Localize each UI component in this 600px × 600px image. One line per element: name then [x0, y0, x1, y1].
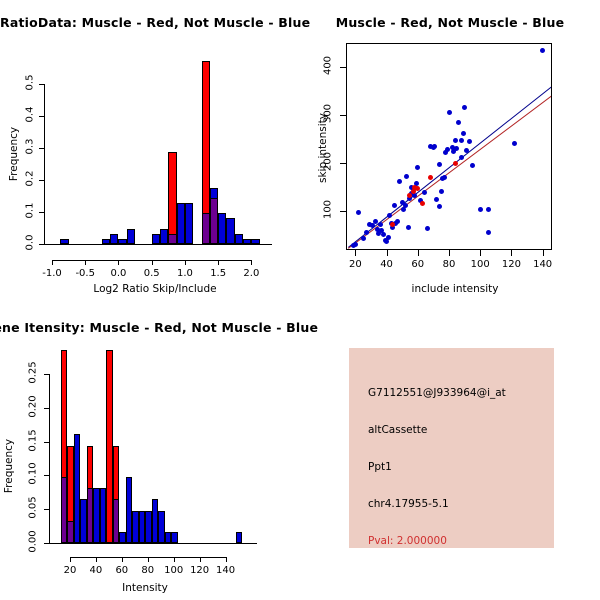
scatter-point-notmuscle: [447, 110, 452, 115]
scatter-point-notmuscle: [467, 139, 472, 144]
scatter-point-notmuscle: [453, 138, 458, 143]
gene-bar-notmuscle: [80, 499, 86, 543]
ratio-bar-notmuscle: [118, 239, 126, 244]
gene-y-tick-label: 0.10: [28, 456, 39, 492]
scatter-point-notmuscle: [361, 236, 366, 241]
scatter-x-tick: [543, 250, 544, 256]
annotation-info-panel: G7112551@J933964@i_at altCassette Ppt1 c…: [349, 348, 554, 548]
ratio-bar-muscle: [168, 152, 176, 244]
scatter-point-notmuscle: [461, 131, 466, 136]
gene-y-tick: [44, 442, 49, 443]
scatter-title: Muscle - Red, Not Muscle - Blue: [300, 15, 600, 30]
ratio-x-tick-label: 0.0: [101, 268, 135, 279]
ratio-x-tick-label: -1.0: [35, 268, 69, 279]
scatter-x-tick: [480, 250, 481, 256]
scatter-y-tick: [340, 67, 346, 68]
gene-bar-notmuscle: [145, 511, 151, 543]
ratio-baseline: [44, 244, 272, 245]
gene-bar-notmuscle: [93, 488, 99, 543]
ratio-y-tick: [39, 116, 44, 117]
scatter-point-notmuscle: [351, 243, 356, 248]
ratio-y-tick-label: 0.1: [25, 195, 36, 225]
scatter-point-notmuscle: [415, 165, 420, 170]
gene-y-tick-label: 0.20: [28, 388, 39, 424]
gene-y-tick-label: 0.15: [28, 422, 39, 458]
gene-bar-notmuscle: [152, 499, 158, 543]
scatter-point-notmuscle: [456, 120, 461, 125]
gene-y-tick-label: 0.00: [28, 524, 39, 560]
gene-symbol-text: Ppt1: [368, 461, 392, 473]
ratio-bar-notmuscle: [243, 239, 251, 244]
gene-x-tick: [200, 557, 201, 562]
scatter-y-tick-label: 400: [323, 52, 334, 80]
ratio-bar-overlap: [210, 198, 218, 244]
ratio-x-tick: [118, 260, 119, 265]
ratio-x-tick: [251, 260, 252, 265]
scatter-x-tick: [418, 250, 419, 256]
gene-x-tick-label: 140: [211, 565, 241, 576]
scatter-point-notmuscle: [387, 213, 392, 218]
gene-x-tick: [148, 557, 149, 562]
ratio-bar-notmuscle: [226, 218, 234, 244]
scatter-point-muscle: [420, 201, 425, 206]
ratio-bar-overlap: [168, 234, 176, 244]
locus-text: chr4.17955-5.1: [368, 498, 449, 510]
gene-histogram-y-axis-title: Frequency: [3, 431, 15, 501]
gene-bar-notmuscle: [74, 434, 80, 543]
scatter-point-notmuscle: [383, 238, 388, 243]
scatter-y-tick-label: 200: [323, 148, 334, 176]
gene-y-tick-label: 0.25: [28, 355, 39, 391]
ratio-x-tick-label: 2.0: [234, 268, 268, 279]
scatter-x-tick: [511, 250, 512, 256]
probe-id-text: G7112551@J933964@i_at: [368, 387, 506, 399]
gene-bar-notmuscle: [171, 532, 177, 543]
gene-y-tick: [44, 408, 49, 409]
gene-x-tick: [96, 557, 97, 562]
scatter-point-notmuscle: [422, 190, 427, 195]
ratio-bar-notmuscle: [235, 234, 243, 244]
scatter-x-tick-label: 20: [340, 259, 370, 270]
ratio-x-tick: [85, 260, 86, 265]
scatter-point-notmuscle: [478, 207, 483, 212]
scatter-point-notmuscle: [486, 207, 491, 212]
gene-y-tick-label: 0.05: [28, 490, 39, 526]
ratio-y-tick: [39, 212, 44, 213]
scatter-point-notmuscle: [375, 227, 380, 232]
scatter-y-tick-label: 300: [323, 100, 334, 128]
scatter-x-tick-label: 60: [403, 259, 433, 270]
scatter-y-tick: [340, 211, 346, 212]
gene-x-tick: [122, 557, 123, 562]
scatter-point-notmuscle: [364, 230, 369, 235]
ratio-x-tick-label: 0.5: [135, 268, 169, 279]
gene-bar-notmuscle: [236, 532, 242, 543]
gene-y-tick: [44, 509, 49, 510]
gene-y-tick: [44, 475, 49, 476]
ratio-histogram-y-axis-title: Frequency: [8, 119, 20, 189]
ratio-bar-overlap: [202, 213, 210, 244]
scatter-point-notmuscle: [437, 162, 442, 167]
gene-x-tick: [174, 557, 175, 562]
ratio-y-tick-label: 0.0: [25, 228, 36, 258]
gene-y-axis-line: [49, 374, 50, 543]
scatter-x-tick-label: 80: [434, 259, 464, 270]
event-type-text: altCassette: [368, 424, 427, 436]
ratio-x-tick: [218, 260, 219, 265]
scatter-point-notmuscle: [459, 138, 464, 143]
scatter-x-tick-label: 100: [465, 259, 495, 270]
ratio-y-tick: [39, 84, 44, 85]
scatter-point-notmuscle: [356, 210, 361, 215]
scatter-x-tick: [355, 250, 356, 256]
gene-bar-notmuscle: [100, 488, 106, 543]
ratio-x-tick: [185, 260, 186, 265]
ratio-x-tick-label: 1.0: [168, 268, 202, 279]
scatter-panel: Muscle - Red, Not Muscle - Blue skip int…: [300, 0, 600, 300]
gene-bar-overlap: [61, 477, 67, 543]
ratio-y-tick-label: 0.2: [25, 163, 36, 193]
ratio-bar-notmuscle: [152, 234, 160, 244]
ratio-x-tick-label: 1.5: [201, 268, 235, 279]
gene-baseline: [49, 543, 257, 544]
gene-histogram-title: Gene Itensity: Muscle - Red, Not Muscle …: [0, 320, 323, 335]
scatter-point-notmuscle: [459, 155, 464, 160]
scatter-y-tick-label: 100: [323, 196, 334, 224]
scatter-point-notmuscle: [425, 226, 430, 231]
scatter-x-axis-title: include intensity: [350, 283, 560, 295]
ratio-y-tick: [39, 148, 44, 149]
ratio-y-tick-label: 0.4: [25, 99, 36, 129]
pval-text: Pval: 2.000000: [368, 535, 447, 547]
scatter-y-tick: [340, 115, 346, 116]
gene-bar-overlap: [113, 499, 119, 543]
scatter-x-tick-label: 40: [372, 259, 402, 270]
ratio-histogram-x-axis-title: Log2 Ratio Skip/Include: [50, 283, 260, 295]
gene-x-tick: [70, 557, 71, 562]
gene-bar-notmuscle: [158, 511, 164, 543]
scatter-point-muscle: [390, 222, 395, 227]
gene-bar-notmuscle: [139, 511, 145, 543]
scatter-point-notmuscle: [486, 230, 491, 235]
scatter-x-tick-label: 140: [528, 259, 558, 270]
ratio-bar-notmuscle: [251, 239, 259, 244]
ratio-bar-notmuscle: [110, 234, 118, 244]
gene-histogram-panel: Gene Itensity: Muscle - Red, Not Muscle …: [0, 300, 345, 600]
ratio-bar-notmuscle: [218, 213, 226, 244]
scatter-x-tick-label: 120: [496, 259, 526, 270]
scatter-x-tick: [387, 250, 388, 256]
ratio-y-axis-line: [44, 84, 45, 244]
ratio-bar-notmuscle: [127, 229, 135, 244]
gene-x-tick: [226, 557, 227, 562]
gene-bar-muscle: [106, 350, 112, 543]
ratio-bar-notmuscle: [102, 239, 110, 244]
gene-bar-overlap: [67, 521, 73, 543]
ratio-bar-notmuscle: [177, 203, 185, 244]
ratio-y-tick-label: 0.3: [25, 131, 36, 161]
gene-histogram-x-axis-title: Intensity: [40, 582, 250, 594]
scatter-y-tick: [340, 163, 346, 164]
ratio-y-tick-label: 0.5: [25, 67, 36, 97]
gene-bar-notmuscle: [165, 532, 171, 543]
ratio-y-tick: [39, 180, 44, 181]
ratio-histogram-panel: RatioData: Muscle - Red, Not Muscle - Bl…: [0, 0, 300, 300]
gene-y-tick: [44, 374, 49, 375]
gene-bar-notmuscle: [132, 511, 138, 543]
scatter-point-notmuscle: [439, 189, 444, 194]
scatter-point-notmuscle: [397, 179, 402, 184]
scatter-point-muscle: [428, 175, 433, 180]
ratio-x-tick: [52, 260, 53, 265]
ratio-x-tick-label: -0.5: [68, 268, 102, 279]
ratio-bar-notmuscle: [160, 229, 168, 244]
scatter-x-tick: [449, 250, 450, 256]
ratio-bar-notmuscle: [185, 203, 193, 244]
gene-bar-notmuscle: [126, 477, 132, 543]
ratio-bar-notmuscle: [60, 239, 68, 244]
gene-bar-overlap: [87, 488, 93, 543]
ratio-x-tick: [152, 260, 153, 265]
ratio-histogram-title: RatioData: Muscle - Red, Not Muscle - Bl…: [0, 15, 300, 30]
